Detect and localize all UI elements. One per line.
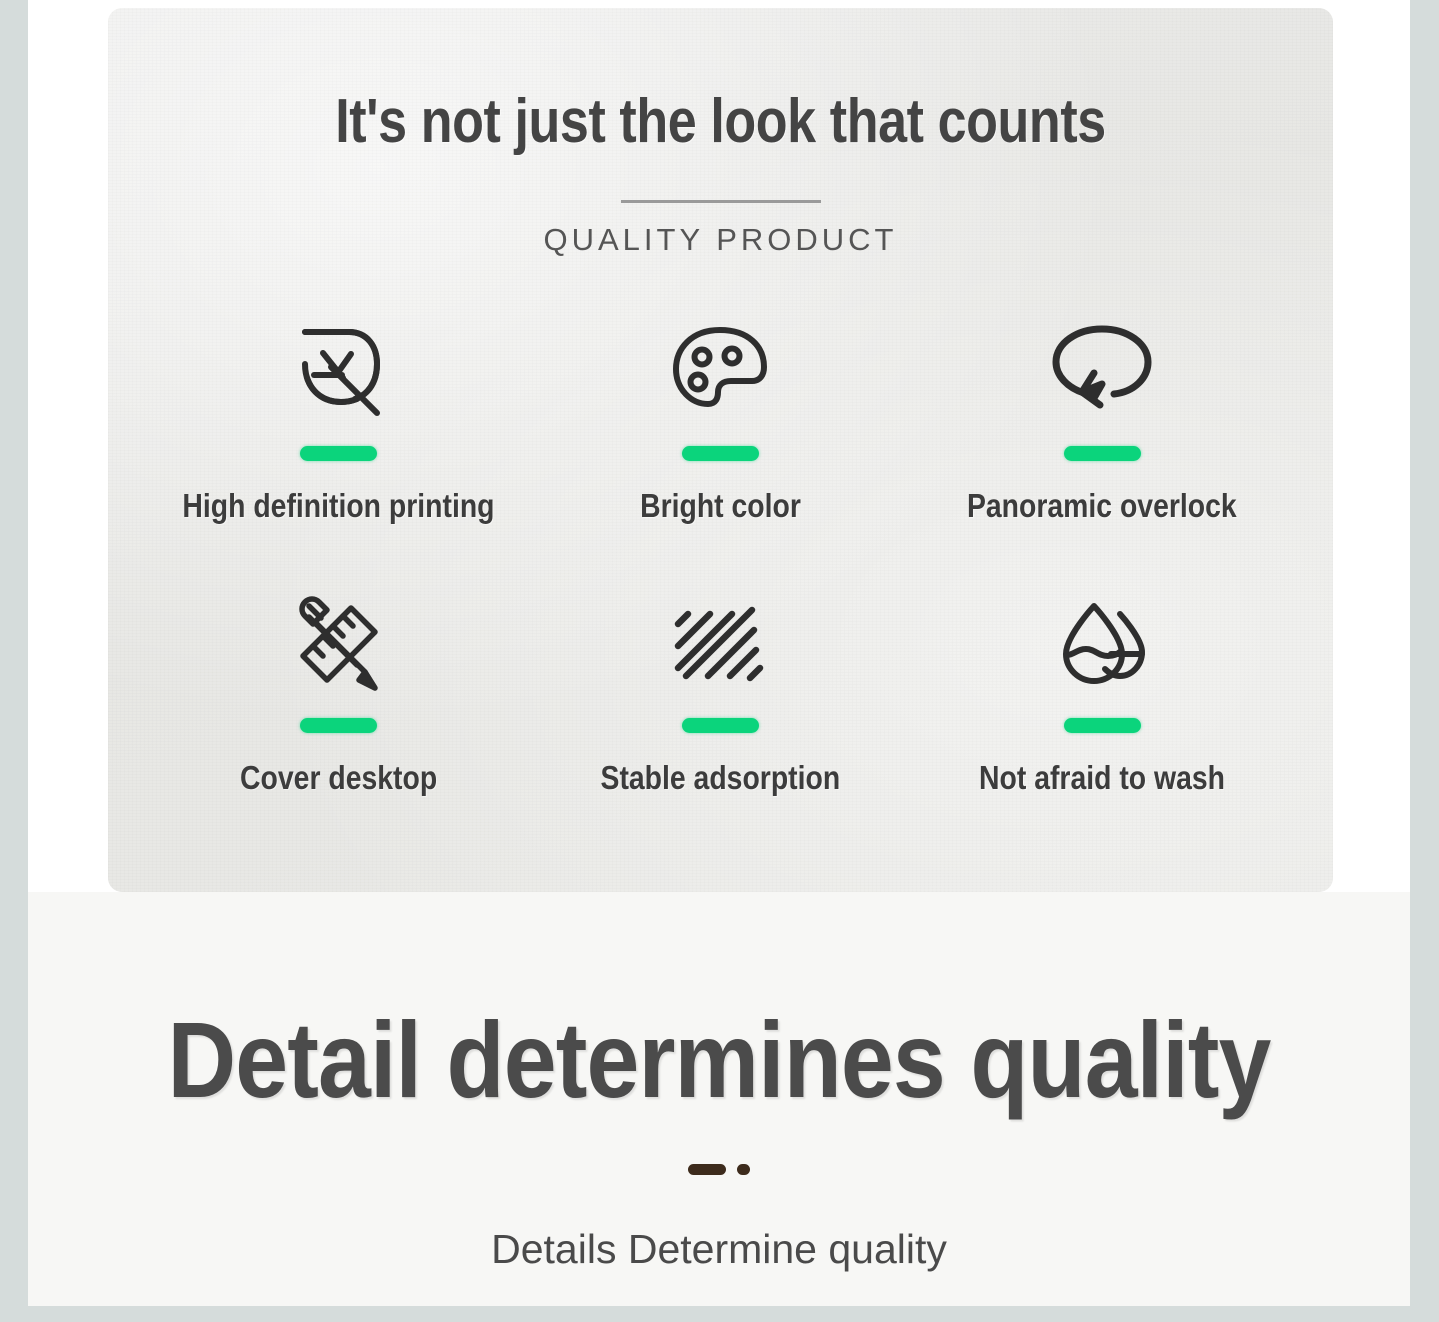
feature-item-not-afraid-to-wash: Not afraid to wash xyxy=(911,580,1293,852)
accent-bar xyxy=(300,446,377,461)
ruler-pencil-icon xyxy=(279,580,399,708)
title-divider-rule xyxy=(621,200,821,203)
divider-dot xyxy=(737,1164,750,1175)
feature-label: Stable adsorption xyxy=(601,759,841,797)
divider-dash xyxy=(688,1164,726,1175)
feature-item-high-definition-printing: High definition printing xyxy=(148,308,530,580)
page-frame: It's not just the look that counts QUALI… xyxy=(0,0,1439,1322)
dash-dot-divider xyxy=(688,1164,750,1175)
accent-bar xyxy=(1064,446,1141,461)
accent-bar xyxy=(682,718,759,733)
feature-label: Bright color xyxy=(640,487,801,525)
accent-bar xyxy=(682,446,759,461)
page-subtitle: QUALITY PRODUCT xyxy=(108,222,1333,258)
feature-label: Not afraid to wash xyxy=(979,759,1225,797)
feature-item-panoramic-overlock: Panoramic overlock xyxy=(911,308,1293,580)
feature-label: High definition printing xyxy=(183,487,495,525)
water-drops-icon xyxy=(1042,580,1162,708)
diagonal-hatch-icon xyxy=(660,580,780,708)
page-canvas: It's not just the look that counts QUALI… xyxy=(28,0,1410,1306)
page-title: It's not just the look that counts xyxy=(206,86,1235,157)
feature-item-cover-desktop: Cover desktop xyxy=(148,580,530,852)
feature-item-bright-color: Bright color xyxy=(530,308,912,580)
rotation-arrow-icon xyxy=(1042,308,1162,436)
paint-palette-icon xyxy=(660,308,780,436)
detail-section: Detail determines quality Details Determ… xyxy=(28,892,1410,1306)
quality-feature-card: It's not just the look that counts QUALI… xyxy=(108,8,1333,892)
feature-item-stable-adsorption: Stable adsorption xyxy=(530,580,912,852)
leaf-icon xyxy=(279,308,399,436)
detail-section-subtitle: Details Determine quality xyxy=(28,1226,1410,1273)
feature-grid: High definition printing xyxy=(148,308,1293,852)
accent-bar xyxy=(1064,718,1141,733)
feature-label: Panoramic overlock xyxy=(967,487,1237,525)
accent-bar xyxy=(300,718,377,733)
feature-label: Cover desktop xyxy=(240,759,437,797)
detail-section-title: Detail determines quality xyxy=(111,997,1327,1122)
